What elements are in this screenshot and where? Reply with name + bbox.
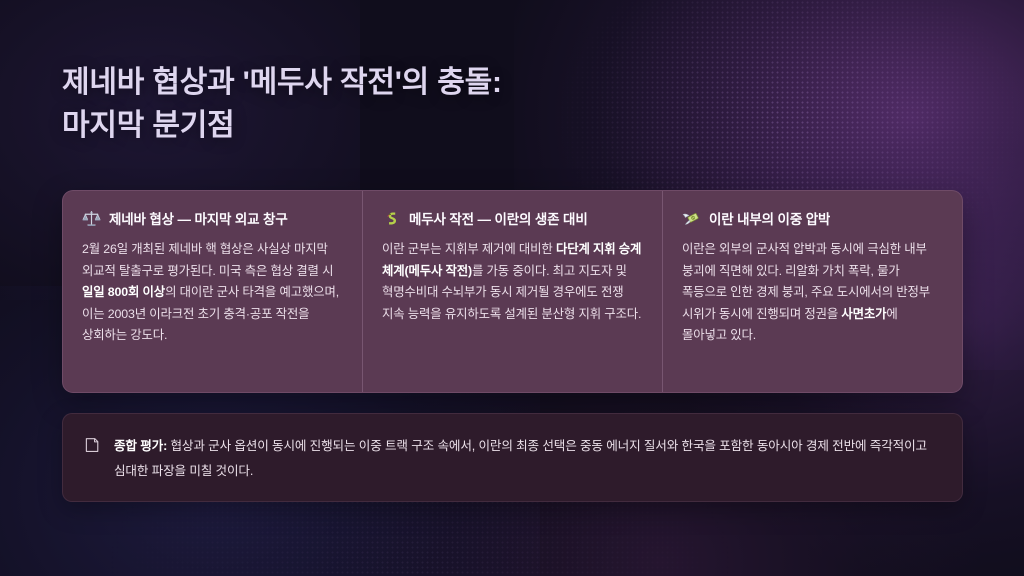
card-body-highlight: 일일 800회 이상 xyxy=(82,285,165,299)
card-title: 메두사 작전 — 이란의 생존 대비 xyxy=(409,208,588,228)
money-with-wings-icon xyxy=(682,209,701,228)
card-body-prefix: 이란 군부는 지휘부 제거에 대비한 xyxy=(382,242,556,256)
card-medusa-operation: 메두사 작전 — 이란의 생존 대비 이란 군부는 지휘부 제거에 대비한 다단… xyxy=(362,191,662,392)
page-title: 제네바 협상과 '메두사 작전'의 충돌: 마지막 분기점 xyxy=(62,62,762,147)
card-header: 메두사 작전 — 이란의 생존 대비 xyxy=(382,208,643,228)
card-body-highlight: 사면초가 xyxy=(841,307,886,321)
card-row: 제네바 협상 — 마지막 외교 창구 2월 26일 개최된 제네바 핵 협상은 … xyxy=(62,190,963,393)
card-body: 이란은 외부의 군사적 압박과 동시에 극심한 내부 붕괴에 직면해 있다. 리… xyxy=(682,239,943,347)
slide-canvas: 제네바 협상과 '메두사 작전'의 충돌: 마지막 분기점 xyxy=(0,0,1024,576)
card-title: 제네바 협상 — 마지막 외교 창구 xyxy=(109,208,288,228)
summary-text: 종합 평가: 협상과 군사 옵션이 동시에 진행되는 이중 트랙 구조 속에서,… xyxy=(114,434,940,481)
summary-body: 협상과 군사 옵션이 동시에 진행되는 이중 트랙 구조 속에서, 이란의 최종… xyxy=(114,439,927,478)
summary-bar: 종합 평가: 협상과 군사 옵션이 동시에 진행되는 이중 트랙 구조 속에서,… xyxy=(62,413,963,502)
card-body: 2월 26일 개최된 제네바 핵 협상은 사실상 마지막 외교적 탈출구로 평가… xyxy=(82,239,343,347)
summary-label: 종합 평가: xyxy=(114,439,167,453)
card-internal-pressure: 이란 내부의 이중 압박 이란은 외부의 군사적 압박과 동시에 극심한 내부 … xyxy=(662,191,962,392)
card-header: 제네바 협상 — 마지막 외교 창구 xyxy=(82,208,343,228)
snake-icon xyxy=(382,209,401,228)
card-geneva-negotiation: 제네바 협상 — 마지막 외교 창구 2월 26일 개최된 제네바 핵 협상은 … xyxy=(63,191,362,392)
card-body-prefix: 2월 26일 개최된 제네바 핵 협상은 사실상 마지막 외교적 탈출구로 평가… xyxy=(82,242,333,278)
card-title: 이란 내부의 이중 압박 xyxy=(709,208,830,228)
card-header: 이란 내부의 이중 압박 xyxy=(682,208,943,228)
card-body: 이란 군부는 지휘부 제거에 대비한 다단계 지휘 승계 체계(메두사 작전)를… xyxy=(382,239,643,325)
balance-scale-icon xyxy=(82,209,101,228)
note-page-icon xyxy=(83,436,101,454)
